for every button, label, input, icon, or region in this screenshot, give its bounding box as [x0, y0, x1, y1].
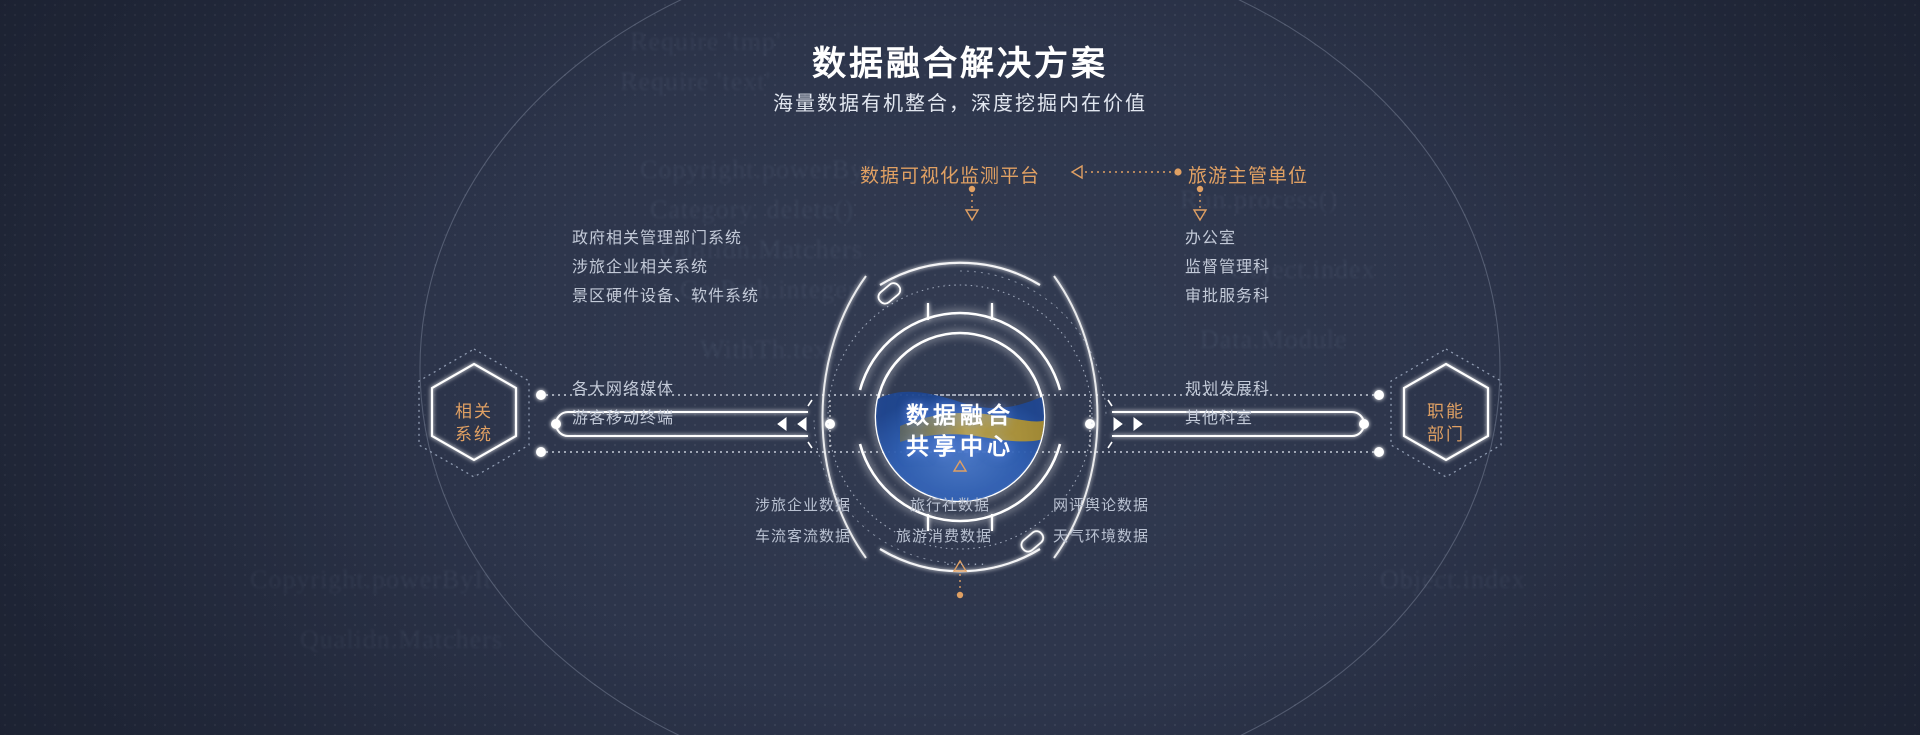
core-label-line2: 共享中心	[860, 431, 1060, 462]
left-source-item[interactable]: 各大网络媒体	[572, 375, 674, 399]
right-department-item[interactable]: 其他科室	[1185, 404, 1253, 428]
bottom-ellipsis: ......	[946, 552, 987, 568]
left-hexagon-label-line1: 相关	[434, 400, 514, 423]
right-department-item[interactable]: 审批服务科	[1185, 282, 1270, 306]
right-hexagon-label-line2: 部门	[1406, 423, 1486, 446]
bottom-data-item[interactable]: 天气环境数据	[1053, 525, 1149, 546]
left-source-item[interactable]: 景区硬件设备、软件系统	[572, 282, 759, 306]
left-source-item[interactable]: 涉旅企业相关系统	[572, 253, 708, 277]
core-label-line1: 数据融合	[860, 400, 1060, 431]
page-title: 数据融合解决方案	[0, 36, 1920, 85]
label-tourism-authority[interactable]: 旅游主管单位	[1188, 161, 1308, 188]
left-hexagon-label: 相关 系统	[434, 400, 514, 446]
right-department-item[interactable]: 办公室	[1185, 224, 1236, 248]
right-hexagon-label-line1: 职能	[1406, 400, 1486, 423]
bottom-data-item[interactable]: 车流客流数据	[755, 525, 851, 546]
right-department-item[interactable]: 规划发展科	[1185, 375, 1270, 399]
right-hexagon-label: 职能 部门	[1406, 400, 1486, 446]
page-subtitle: 海量数据有机整合，深度挖掘内在价值	[0, 87, 1920, 116]
bottom-data-item[interactable]: 旅行社数据	[910, 494, 990, 515]
core-label: 数据融合 共享中心	[860, 400, 1060, 462]
left-source-item[interactable]: 游客移动终端	[572, 404, 674, 428]
label-visualization-platform[interactable]: 数据可视化监测平台	[860, 161, 1040, 188]
bottom-data-item[interactable]: 旅游消费数据	[896, 525, 992, 546]
left-source-item[interactable]: 政府相关管理部门系统	[572, 224, 742, 248]
bottom-data-item[interactable]: 涉旅企业数据	[755, 494, 851, 515]
diagram-stage: Require 'tmp' Require 'text' Copyright.p…	[0, 0, 1920, 735]
bottom-data-item[interactable]: 网评舆论数据	[1053, 494, 1149, 515]
right-department-item[interactable]: 监督管理科	[1185, 253, 1270, 277]
left-hexagon-label-line2: 系统	[434, 423, 514, 446]
